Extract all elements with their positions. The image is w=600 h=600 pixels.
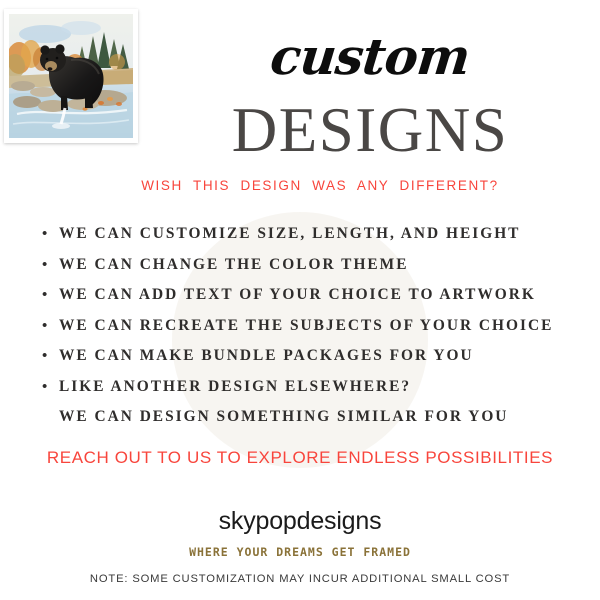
list-item: LIKE ANOTHER DESIGN ELSEWHERE? [42, 372, 587, 403]
sub-tagline: WISH THIS DESIGN WAS ANY DIFFERENT? [60, 178, 580, 193]
list-item: WE CAN RECREATE THE SUBJECTS OF YOUR CHO… [42, 311, 587, 342]
bear-artwork-illustration [9, 14, 133, 138]
list-item: WE CAN ADD TEXT OF YOUR CHOICE TO ARTWOR… [42, 280, 587, 311]
list-item-continuation: WE CAN DESIGN SOMETHING SIMILAR FOR YOU [42, 402, 587, 433]
brand-tagline: WHERE YOUR DREAMS GET FRAMED [100, 545, 500, 559]
promo-graphic-canvas: custom DESIGNS WISH THIS DESIGN WAS ANY … [0, 0, 600, 600]
list-item: WE CAN CUSTOMIZE SIZE, LENGTH, AND HEIGH… [42, 219, 587, 250]
brand-logo: skypopdesigns [100, 507, 500, 536]
page-title-designs: DESIGNS [150, 97, 590, 163]
footer-note: NOTE: SOME CUSTOMIZATION MAY INCUR ADDIT… [20, 573, 580, 585]
list-item: WE CAN CHANGE THE COLOR THEME [42, 250, 587, 281]
page-title-script: custom [147, 26, 594, 88]
call-to-action-text: REACH OUT TO US TO EXPLORE ENDLESS POSSI… [20, 448, 580, 468]
list-item: WE CAN MAKE BUNDLE PACKAGES FOR YOU [42, 341, 587, 372]
black-bear-watercolor-artwork [4, 9, 138, 143]
customization-feature-list: WE CAN CUSTOMIZE SIZE, LENGTH, AND HEIGH… [42, 219, 587, 433]
